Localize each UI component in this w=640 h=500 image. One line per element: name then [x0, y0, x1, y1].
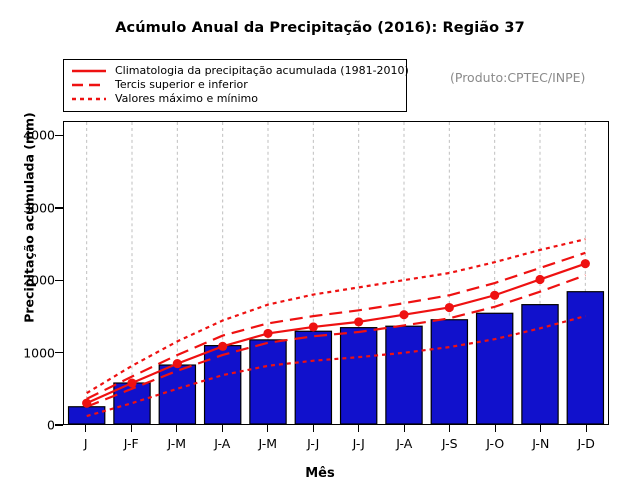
legend-item-extremos: Valores máximo e mínimo	[70, 92, 400, 106]
climatology-marker	[354, 317, 363, 326]
plot-area	[63, 121, 609, 425]
x-tick-mark	[176, 425, 177, 432]
y-tick-label: 4000	[8, 128, 55, 143]
plot-graphics	[64, 122, 608, 424]
x-tick-mark	[267, 425, 268, 432]
x-tick-label: J-F	[124, 436, 139, 451]
climatology-marker	[399, 310, 408, 319]
x-tick-label: J-A	[214, 436, 230, 451]
bar	[341, 328, 377, 424]
x-tick-label: J-A	[396, 436, 412, 451]
climatology-marker	[218, 342, 227, 351]
x-tick-label: J-M	[167, 436, 186, 451]
legend-key-dashed-icon	[70, 79, 108, 91]
bar	[295, 331, 331, 424]
climatology-marker	[581, 259, 590, 268]
y-tick-label: 2000	[8, 273, 55, 288]
y-tick-mark	[55, 135, 63, 136]
climatology-marker	[263, 329, 272, 338]
y-tick-label: 1000	[8, 345, 55, 360]
y-axis-label: Precipitação acumulada (mm)	[22, 68, 37, 368]
y-tick-mark	[55, 280, 63, 281]
x-tick-label: J-S	[442, 436, 458, 451]
climatology-marker	[82, 399, 91, 408]
x-axis-label: Mês	[0, 466, 640, 481]
x-tick-label: J-N	[532, 436, 549, 451]
bar	[205, 346, 241, 424]
climatology-marker	[127, 378, 136, 387]
x-tick-mark	[131, 425, 132, 432]
y-tick-mark	[55, 424, 63, 425]
y-tick-mark	[55, 352, 63, 353]
bar	[386, 326, 422, 424]
x-tick-mark	[449, 425, 450, 432]
x-tick-label: J-O	[486, 436, 504, 451]
x-tick-label: J-M	[258, 436, 277, 451]
x-tick-mark	[495, 425, 496, 432]
y-tick-label: 3000	[8, 200, 55, 215]
climatology-marker	[490, 291, 499, 300]
x-tick-label: J-J	[353, 436, 365, 451]
legend-item-tercis: Tercis superior e inferior	[70, 78, 400, 92]
bar	[567, 292, 603, 424]
legend-key-dotted-icon	[70, 93, 108, 105]
x-tick-label: J-D	[578, 436, 595, 451]
x-tick-mark	[313, 425, 314, 432]
bar	[431, 320, 467, 424]
legend-label: Valores máximo e mínimo	[115, 93, 258, 105]
x-tick-mark	[222, 425, 223, 432]
climatology-marker	[309, 322, 318, 331]
legend-label: Climatologia da precipitação acumulada (…	[115, 65, 409, 77]
climatology-marker	[173, 359, 182, 368]
legend-label: Tercis superior e inferior	[115, 79, 248, 91]
legend-key-solid-icon	[70, 65, 108, 77]
chart-title: Acúmulo Anual da Precipitação (2016): Re…	[0, 20, 640, 36]
bar	[522, 305, 558, 424]
x-tick-mark	[358, 425, 359, 432]
chart-canvas: Acúmulo Anual da Precipitação (2016): Re…	[0, 0, 640, 500]
x-tick-mark	[586, 425, 587, 432]
product-stamp: (Produto:CPTEC/INPE)	[450, 70, 585, 85]
x-tick-mark	[85, 425, 86, 432]
y-tick-mark	[55, 207, 63, 208]
x-tick-label: J-J	[307, 436, 319, 451]
bar	[477, 313, 513, 424]
x-tick-mark	[540, 425, 541, 432]
climatology-marker	[445, 303, 454, 312]
bar	[159, 365, 195, 424]
bar	[250, 340, 286, 424]
y-tick-label: 0	[8, 418, 55, 433]
x-tick-label: J	[84, 436, 88, 451]
climatology-marker	[535, 275, 544, 284]
legend: Climatologia da precipitação acumulada (…	[63, 59, 407, 112]
legend-item-climatologia: Climatologia da precipitação acumulada (…	[70, 64, 400, 78]
x-tick-mark	[404, 425, 405, 432]
